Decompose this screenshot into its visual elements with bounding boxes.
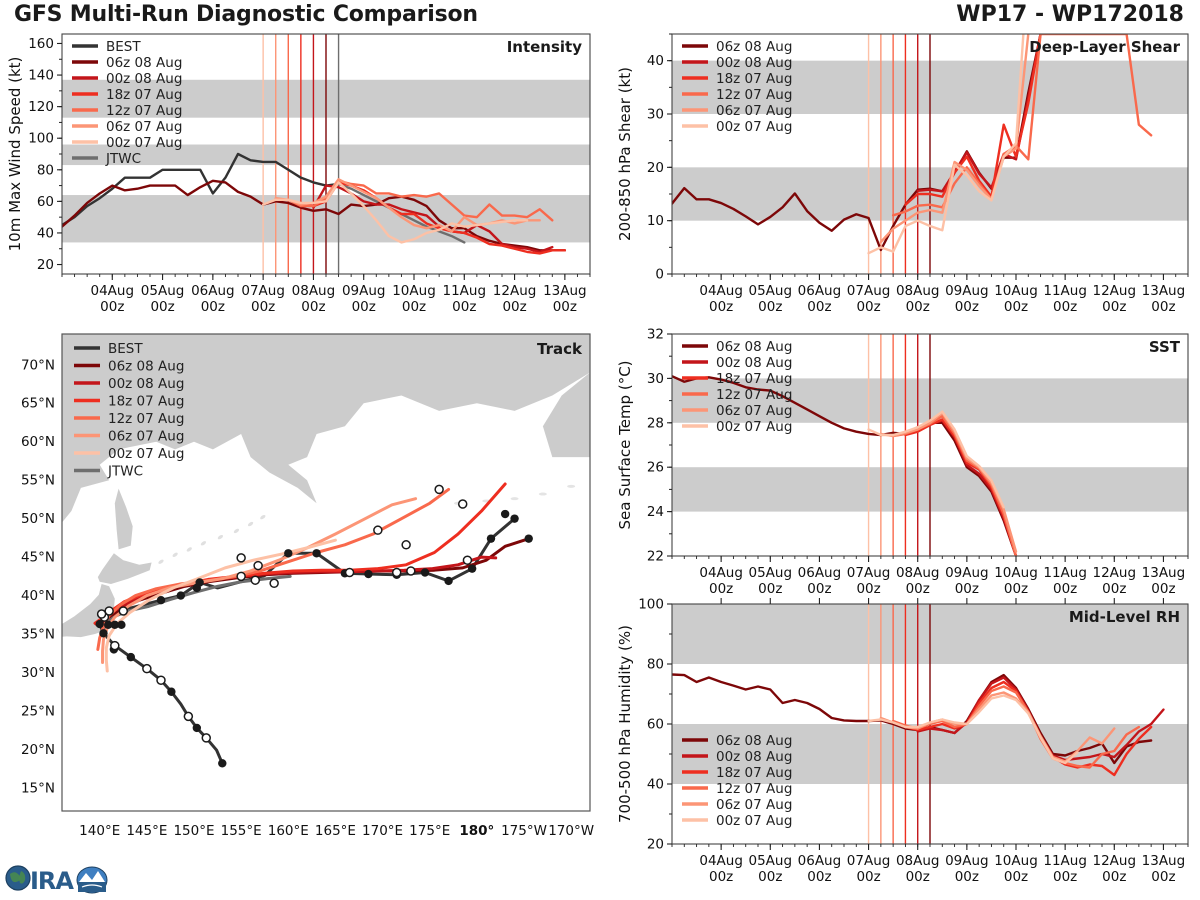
svg-text:40°N: 40°N [21, 588, 55, 604]
svg-text:20: 20 [647, 160, 664, 176]
svg-text:10Aug: 10Aug [994, 283, 1038, 299]
svg-text:00z: 00z [100, 299, 124, 315]
svg-text:00z: 00z [1053, 581, 1077, 597]
svg-text:20°N: 20°N [21, 742, 55, 758]
svg-text:00z: 00z [1053, 299, 1077, 315]
svg-text:155°E: 155°E [221, 823, 262, 839]
svg-text:180°: 180° [459, 823, 494, 839]
svg-text:12Aug: 12Aug [1093, 853, 1137, 869]
shear-chart: 01020304004Aug00z05Aug00z06Aug00z07Aug00… [600, 26, 1200, 326]
svg-text:00z: 00z [709, 869, 733, 885]
svg-text:BEST: BEST [108, 341, 143, 357]
svg-text:175°W: 175°W [501, 823, 547, 839]
svg-text:12z 07 Aug: 12z 07 Aug [106, 103, 182, 119]
svg-text:160: 160 [28, 36, 54, 52]
svg-text:04Aug: 04Aug [699, 565, 743, 581]
svg-text:04Aug: 04Aug [91, 283, 135, 299]
svg-text:175°E: 175°E [409, 823, 450, 839]
svg-text:13Aug: 13Aug [543, 283, 587, 299]
svg-text:30: 30 [647, 371, 664, 387]
panel-title: Track [537, 340, 583, 358]
svg-text:60: 60 [37, 194, 54, 210]
svg-text:09Aug: 09Aug [945, 283, 989, 299]
svg-text:05Aug: 05Aug [749, 283, 793, 299]
svg-text:00z: 00z [856, 581, 880, 597]
svg-text:00z 08 Aug: 00z 08 Aug [716, 355, 792, 371]
svg-text:05Aug: 05Aug [749, 565, 793, 581]
svg-text:12z 07 Aug: 12z 07 Aug [716, 781, 792, 797]
svg-text:40: 40 [647, 777, 664, 793]
y-axis-label: 10m Max Wind Speed (kt) [6, 57, 24, 252]
svg-text:20: 20 [37, 257, 54, 273]
svg-text:00z 07 Aug: 00z 07 Aug [716, 813, 792, 829]
svg-text:60°N: 60°N [21, 434, 55, 450]
svg-text:00z: 00z [856, 869, 880, 885]
svg-text:00z: 00z [906, 581, 930, 597]
svg-text:140: 140 [28, 68, 54, 84]
svg-text:170°E: 170°E [362, 823, 403, 839]
svg-text:18z 07 Aug: 18z 07 Aug [716, 765, 792, 781]
svg-text:00z 08 Aug: 00z 08 Aug [716, 55, 792, 71]
svg-text:06z 08 Aug: 06z 08 Aug [716, 339, 792, 355]
svg-text:50°N: 50°N [21, 511, 55, 527]
panel-rh: 2040608010004Aug00z05Aug00z06Aug00z07Aug… [600, 596, 1200, 896]
svg-text:12z 07 Aug: 12z 07 Aug [716, 87, 792, 103]
svg-text:00z: 00z [553, 299, 577, 315]
svg-text:10Aug: 10Aug [994, 565, 1038, 581]
svg-text:00z: 00z [1004, 299, 1028, 315]
svg-text:00z: 00z [758, 581, 782, 597]
svg-text:00z: 00z [1004, 869, 1028, 885]
svg-text:08Aug: 08Aug [896, 853, 940, 869]
svg-text:06z 07 Aug: 06z 07 Aug [716, 403, 792, 419]
svg-text:10: 10 [647, 213, 664, 229]
svg-text:00z: 00z [402, 299, 426, 315]
svg-text:06Aug: 06Aug [798, 853, 842, 869]
svg-text:08Aug: 08Aug [896, 283, 940, 299]
svg-text:00z 08 Aug: 00z 08 Aug [716, 749, 792, 765]
svg-text:00z: 00z [1151, 869, 1175, 885]
svg-text:00z: 00z [201, 299, 225, 315]
svg-text:11Aug: 11Aug [1043, 565, 1087, 581]
svg-text:00z 08 Aug: 00z 08 Aug [108, 376, 184, 392]
svg-text:28: 28 [647, 415, 664, 431]
svg-text:00z: 00z [906, 869, 930, 885]
svg-text:12Aug: 12Aug [1093, 283, 1137, 299]
svg-text:04Aug: 04Aug [699, 283, 743, 299]
svg-text:32: 32 [647, 327, 664, 343]
panel-track: 70°N65°N60°N55°N50°N45°N40°N35°N30°N25°N… [0, 326, 600, 871]
panel-intensity: 2040608010012014016004Aug00z05Aug00z06Au… [0, 26, 600, 326]
svg-text:22: 22 [647, 549, 664, 565]
svg-text:80: 80 [37, 162, 54, 178]
svg-text:13Aug: 13Aug [1142, 853, 1186, 869]
svg-text:08Aug: 08Aug [292, 283, 336, 299]
panel-title: Mid-Level RH [1069, 608, 1180, 626]
svg-text:165°E: 165°E [315, 823, 356, 839]
svg-text:55°N: 55°N [21, 473, 55, 489]
panel-title: SST [1149, 338, 1181, 356]
svg-text:12Aug: 12Aug [493, 283, 537, 299]
svg-text:07Aug: 07Aug [241, 283, 285, 299]
svg-text:160°E: 160°E [268, 823, 309, 839]
svg-text:18z 07 Aug: 18z 07 Aug [108, 394, 184, 410]
svg-text:06z 07 Aug: 06z 07 Aug [716, 103, 792, 119]
sst-chart: 22242628303204Aug00z05Aug00z06Aug00z07Au… [600, 326, 1200, 608]
svg-text:06z 08 Aug: 06z 08 Aug [108, 359, 184, 375]
svg-text:35°N: 35°N [21, 627, 55, 643]
svg-text:IRA: IRA [30, 867, 74, 895]
svg-text:00z: 00z [1004, 581, 1028, 597]
svg-text:00z: 00z [1151, 581, 1175, 597]
panel-title: Intensity [507, 38, 583, 56]
svg-text:00z 08 Aug: 00z 08 Aug [106, 71, 182, 87]
svg-text:70°N: 70°N [21, 357, 55, 373]
svg-text:100: 100 [638, 597, 664, 613]
svg-text:00z: 00z [709, 581, 733, 597]
panel-shear: 01020304004Aug00z05Aug00z06Aug00z07Aug00… [600, 26, 1200, 326]
panel-title: Deep-Layer Shear [1029, 38, 1180, 56]
svg-text:00z: 00z [758, 869, 782, 885]
svg-text:04Aug: 04Aug [699, 853, 743, 869]
svg-text:30: 30 [647, 107, 664, 123]
svg-text:00z: 00z [251, 299, 275, 315]
svg-text:00z: 00z [856, 299, 880, 315]
svg-text:00z: 00z [758, 299, 782, 315]
svg-text:40: 40 [37, 225, 54, 241]
svg-text:00z: 00z [955, 581, 979, 597]
svg-text:05Aug: 05Aug [749, 853, 793, 869]
svg-text:13Aug: 13Aug [1142, 283, 1186, 299]
y-axis-label: 200-850 hPa Shear (kt) [616, 67, 634, 241]
storm-id-label: WP17 - WP172018 [956, 2, 1184, 27]
svg-text:09Aug: 09Aug [945, 565, 989, 581]
svg-text:150°E: 150°E [173, 823, 214, 839]
svg-text:00z: 00z [709, 299, 733, 315]
svg-text:00z: 00z [1151, 299, 1175, 315]
svg-text:12z 07 Aug: 12z 07 Aug [716, 387, 792, 403]
svg-text:10Aug: 10Aug [392, 283, 436, 299]
svg-text:140°E: 140°E [79, 823, 120, 839]
svg-text:0: 0 [655, 267, 664, 283]
svg-text:07Aug: 07Aug [847, 853, 891, 869]
cira-logo: IRA [4, 856, 120, 898]
svg-text:12Aug: 12Aug [1093, 565, 1137, 581]
svg-text:170°W: 170°W [548, 823, 594, 839]
svg-text:00z: 00z [807, 299, 831, 315]
svg-text:11Aug: 11Aug [1043, 853, 1087, 869]
svg-text:18z 07 Aug: 18z 07 Aug [716, 71, 792, 87]
svg-text:120: 120 [28, 99, 54, 115]
svg-text:60: 60 [647, 717, 664, 733]
svg-text:00z: 00z [1102, 299, 1126, 315]
y-axis-label: Sea Surface Temp (°C) [616, 360, 634, 529]
svg-text:00z: 00z [150, 299, 174, 315]
svg-text:00z 07 Aug: 00z 07 Aug [106, 135, 182, 151]
svg-text:20: 20 [647, 837, 664, 853]
svg-text:06Aug: 06Aug [798, 565, 842, 581]
svg-text:06z 07 Aug: 06z 07 Aug [716, 797, 792, 813]
track-map: 70°N65°N60°N55°N50°N45°N40°N35°N30°N25°N… [0, 326, 600, 871]
svg-text:06z 08 Aug: 06z 08 Aug [716, 39, 792, 55]
svg-text:00z: 00z [352, 299, 376, 315]
svg-text:10Aug: 10Aug [994, 853, 1038, 869]
svg-text:65°N: 65°N [21, 396, 55, 412]
intensity-chart: 2040608010012014016004Aug00z05Aug00z06Au… [0, 26, 600, 326]
svg-text:24: 24 [647, 504, 664, 520]
svg-text:JTWC: JTWC [107, 464, 143, 480]
svg-text:00z: 00z [502, 299, 526, 315]
svg-text:40: 40 [647, 53, 664, 69]
svg-text:80: 80 [647, 657, 664, 673]
svg-text:45°N: 45°N [21, 550, 55, 566]
svg-text:11Aug: 11Aug [1043, 283, 1087, 299]
svg-text:25°N: 25°N [21, 703, 55, 719]
svg-text:18z 07 Aug: 18z 07 Aug [106, 87, 182, 103]
svg-text:07Aug: 07Aug [847, 565, 891, 581]
svg-text:00z: 00z [1102, 581, 1126, 597]
svg-text:00z 07 Aug: 00z 07 Aug [108, 446, 184, 462]
y-axis-label: 700-500 hPa Humidity (%) [616, 625, 634, 823]
svg-text:15°N: 15°N [21, 780, 55, 796]
svg-text:00z: 00z [301, 299, 325, 315]
svg-text:00z: 00z [807, 869, 831, 885]
svg-text:06z 08 Aug: 06z 08 Aug [106, 55, 182, 71]
svg-text:08Aug: 08Aug [896, 565, 940, 581]
svg-text:30°N: 30°N [21, 665, 55, 681]
svg-text:BEST: BEST [106, 39, 141, 55]
svg-text:06z 07 Aug: 06z 07 Aug [108, 429, 184, 445]
svg-text:26: 26 [647, 460, 664, 476]
panel-sst: 22242628303204Aug00z05Aug00z06Aug00z07Au… [600, 326, 1200, 608]
svg-text:00z 07 Aug: 00z 07 Aug [716, 419, 792, 435]
svg-text:06Aug: 06Aug [191, 283, 235, 299]
svg-text:06Aug: 06Aug [798, 283, 842, 299]
svg-text:00z: 00z [452, 299, 476, 315]
svg-text:00z: 00z [955, 299, 979, 315]
svg-text:100: 100 [28, 131, 54, 147]
svg-text:145°E: 145°E [126, 823, 167, 839]
svg-text:JTWC: JTWC [105, 151, 141, 167]
svg-text:12z 07 Aug: 12z 07 Aug [108, 411, 184, 427]
svg-text:09Aug: 09Aug [342, 283, 386, 299]
svg-text:00z: 00z [1053, 869, 1077, 885]
svg-text:06z 08 Aug: 06z 08 Aug [716, 733, 792, 749]
rh-chart: 2040608010004Aug00z05Aug00z06Aug00z07Aug… [600, 596, 1200, 896]
svg-text:09Aug: 09Aug [945, 853, 989, 869]
svg-text:11Aug: 11Aug [443, 283, 487, 299]
svg-text:00z: 00z [955, 869, 979, 885]
page-title: GFS Multi-Run Diagnostic Comparison [14, 2, 478, 27]
svg-text:00z: 00z [1102, 869, 1126, 885]
svg-text:00z: 00z [807, 581, 831, 597]
svg-text:00z 07 Aug: 00z 07 Aug [716, 119, 792, 135]
svg-text:05Aug: 05Aug [141, 283, 185, 299]
svg-text:18z 07 Aug: 18z 07 Aug [716, 371, 792, 387]
svg-text:00z: 00z [906, 299, 930, 315]
svg-text:13Aug: 13Aug [1142, 565, 1186, 581]
svg-text:07Aug: 07Aug [847, 283, 891, 299]
svg-text:06z 07 Aug: 06z 07 Aug [106, 119, 182, 135]
